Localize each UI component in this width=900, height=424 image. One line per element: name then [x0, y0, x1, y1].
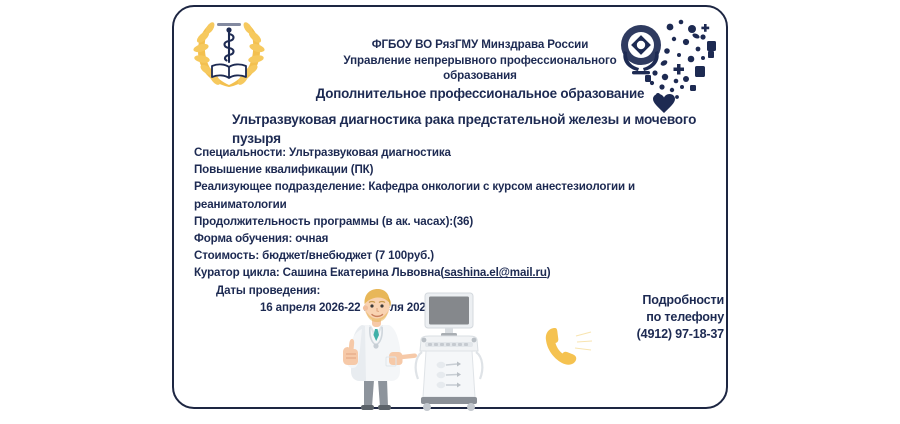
header-line-2: Управление непрерывного профессиональног…	[270, 53, 690, 69]
detail-duration: Продолжительность программы (в ак. часах…	[194, 213, 694, 230]
institution-header: ФГБОУ ВО РязГМУ Минздрава России Управле…	[270, 37, 690, 103]
doctor-figure	[343, 289, 417, 410]
curator-suffix: )	[547, 266, 551, 279]
contact-line-1: Подробности	[594, 292, 724, 309]
detail-department: Реализующее подразделение: Кафедра онкол…	[194, 178, 694, 212]
ryazgmu-emblem-logo	[190, 15, 268, 93]
header-line-1: ФГБОУ ВО РязГМУ Минздрава России	[270, 37, 690, 53]
header-dpo-line: Дополнительное профессиональное образова…	[270, 85, 690, 103]
curator-email-link[interactable]: sashina.el@mail.ru	[444, 266, 547, 279]
program-title: Ультразвуковая диагностика рака предстат…	[232, 110, 702, 148]
ultrasound-machine	[416, 293, 483, 411]
phone-handset-icon	[542, 323, 592, 367]
contact-phone-number[interactable]: (4912) 97-18-37	[594, 326, 724, 343]
header-line-3: образования	[270, 68, 690, 84]
doctor-ultrasound-illustration	[329, 285, 489, 413]
contact-block: Подробности по телефону (4912) 97-18-37	[594, 292, 724, 343]
contact-line-2: по телефону	[594, 309, 724, 326]
detail-type: Повышение квалификации (ПК)	[194, 161, 694, 178]
detail-specialties: Специальности: Ультразвуковая диагностик…	[194, 144, 694, 161]
detail-form: Форма обучения: очная	[194, 230, 694, 247]
announcement-card: ФГБОУ ВО РязГМУ Минздрава России Управле…	[172, 5, 728, 409]
detail-curator: Куратор цикла: Сашина Екатерина Львовна(…	[194, 264, 694, 281]
curator-prefix: Куратор цикла: Сашина Екатерина Львовна(	[194, 266, 444, 279]
detail-cost: Стоимость: бюджет/внебюджет (7 100руб.)	[194, 247, 694, 264]
